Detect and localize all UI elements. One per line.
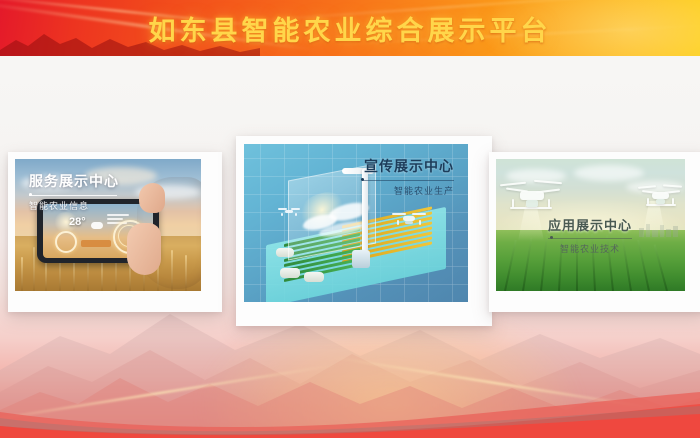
card-caption-application: 应用展示中心 智能农业技术 — [548, 215, 632, 255]
hay-bale — [280, 268, 300, 278]
drone-icon — [392, 210, 426, 226]
card-application-display-center[interactable]: 应用展示中心 智能农业技术 — [489, 152, 700, 312]
platform-showcase-page: 如东县智能农业综合展示平台 — [0, 0, 700, 438]
page-title: 如东县智能农业综合展示平台 — [0, 0, 700, 56]
card-caption-promotion: 宣传展示中心 智能农业生产 — [362, 156, 454, 197]
card-subtitle: 智能农业信息 — [29, 199, 119, 212]
caption-rule — [29, 195, 117, 196]
drone-icon — [278, 206, 300, 216]
card-title: 服务展示中心 — [29, 171, 119, 191]
card-promotion-display-center[interactable]: 宣传展示中心 智能农业生产 — [236, 136, 492, 326]
header-banner: 如东县智能农业综合展示平台 — [0, 0, 700, 56]
hay-bale — [304, 272, 324, 282]
card-image-service: 28° — [15, 159, 201, 291]
hud-chip — [81, 240, 111, 247]
card-image-promotion: 宣传展示中心 智能农业生产 — [244, 144, 468, 302]
card-title: 宣传展示中心 — [362, 156, 454, 176]
caption-dot — [29, 193, 32, 196]
card-image-application: 应用展示中心 智能农业技术 — [496, 159, 685, 291]
drone-icon — [638, 181, 682, 207]
cloud — [574, 165, 644, 181]
water-tank — [352, 250, 370, 268]
caption-rule — [548, 238, 632, 239]
caption-rule — [362, 180, 454, 181]
temperature-readout: 28° — [69, 216, 86, 228]
hand — [137, 177, 201, 289]
drone-icon — [500, 177, 564, 211]
hud-ring — [55, 231, 77, 253]
card-title: 应用展示中心 — [548, 215, 632, 234]
finger — [139, 183, 165, 213]
card-subtitle: 智能农业技术 — [548, 242, 632, 255]
cloud-icon — [91, 222, 103, 229]
thumb — [127, 223, 161, 275]
card-subtitle: 智能农业生产 — [362, 184, 454, 197]
card-caption-service: 服务展示中心 智能农业信息 — [29, 171, 119, 212]
caption-dot — [550, 236, 553, 239]
card-service-display-center[interactable]: 28° — [8, 152, 222, 312]
caption-dot — [361, 178, 364, 181]
